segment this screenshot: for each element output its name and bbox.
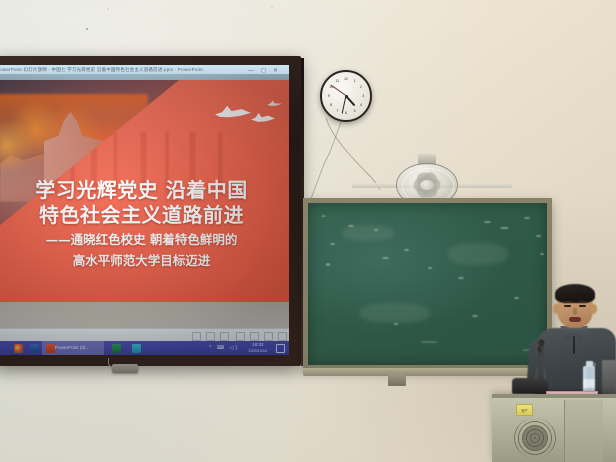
- shirt-placket: [573, 336, 575, 354]
- clock-numeral: 2: [360, 85, 362, 89]
- mail-icon[interactable]: [132, 344, 141, 353]
- chalkboard-surface[interactable]: [308, 203, 547, 365]
- wall-speck: [107, 8, 109, 10]
- dove-icon: [251, 112, 275, 125]
- status-button[interactable]: [192, 332, 201, 341]
- wall-crack: [300, 112, 346, 208]
- mouth: [569, 317, 581, 322]
- taskbar-clock[interactable]: 16:32 2025/10/16: [249, 342, 267, 354]
- chalk-tray-bracket: [388, 374, 406, 386]
- slide-canvas[interactable]: 学习光辉党史 沿着中国 特色社会主义道路前进 ——通晓红色校史 朝着特色鲜明的 …: [0, 80, 289, 328]
- clock-numeral: 8: [330, 103, 332, 107]
- clock-numeral: 1: [354, 79, 356, 83]
- hanging-wire: [322, 118, 382, 190]
- show-desktop-button[interactable]: [276, 344, 285, 353]
- clock-center-pin: [345, 95, 348, 98]
- powerpoint-title-bar[interactable]: PowerPoint 幻灯片放映 - 中国七 学习光辉党史 沿着中国特色社会主义…: [0, 65, 289, 81]
- wall-speck: [271, 6, 273, 8]
- eyebrow: [578, 301, 587, 303]
- slide-headline: 学习光辉党史 沿着中国 特色社会主义道路前进: [0, 178, 289, 228]
- status-button[interactable]: [278, 332, 287, 341]
- fan-hub: [420, 180, 434, 190]
- powerpoint-icon[interactable]: [46, 344, 55, 353]
- bag-on-lectern: [512, 378, 548, 394]
- clock-numeral: 9: [328, 94, 330, 98]
- dove-icon: [215, 104, 251, 121]
- taskbar-date: 2025/10/16: [249, 348, 267, 354]
- powerpoint-status-bar[interactable]: [0, 328, 289, 342]
- bottle-cap: [586, 361, 593, 367]
- clock-numeral: 6: [345, 111, 347, 115]
- window-controls[interactable]: —◻✕: [248, 67, 285, 74]
- clock-numeral: 11: [335, 79, 339, 83]
- lectern-side-panel: [564, 400, 603, 462]
- eyebrow: [563, 301, 572, 303]
- asset-sticker-text: 资产: [517, 408, 532, 413]
- green-chalkboard: [303, 198, 552, 370]
- laptop: [602, 360, 616, 398]
- windows-taskbar[interactable]: PowerPoint (3)... ^ ⌨ ◁) 16:32 2025/10/1…: [0, 341, 289, 355]
- clock-numeral: 7: [336, 109, 338, 113]
- clock-second-hand: [330, 85, 346, 97]
- status-button[interactable]: [236, 332, 245, 341]
- clock-numeral: 4: [360, 103, 362, 107]
- word-icon[interactable]: [30, 344, 39, 353]
- lectern-top-edge: [492, 394, 616, 398]
- ear: [553, 304, 559, 314]
- projected-desktop[interactable]: PowerPoint 幻灯片放映 - 中国七 学习光辉党史 沿着中国特色社会主义…: [0, 65, 289, 355]
- clock-numeral: 5: [354, 109, 356, 113]
- chalk-tray: [303, 368, 552, 376]
- clock-numeral: 3: [362, 94, 364, 98]
- subtitle-line-1: ——通晓红色校史 朝着特色鲜明的: [0, 230, 289, 249]
- system-tray[interactable]: ^ ⌨ ◁): [209, 345, 239, 351]
- headline-line-2: 特色社会主义道路前进: [0, 203, 289, 228]
- subtitle-line-2: 高水平师范大学目标迈进: [0, 249, 289, 273]
- wall-speck: [86, 28, 88, 30]
- speaker-grille-icon: [514, 418, 556, 458]
- bottle-label: [583, 379, 595, 388]
- classroom-scene: PowerPoint 幻灯片放映 - 中国七 学习光辉党史 沿着中国特色社会主义…: [0, 0, 616, 462]
- status-button[interactable]: [206, 332, 215, 341]
- status-button[interactable]: [264, 332, 273, 341]
- slide-lower-band: [0, 302, 289, 328]
- status-button[interactable]: [220, 332, 229, 341]
- speaker-hair: [555, 284, 595, 303]
- projection-screen-frame: PowerPoint 幻灯片放映 - 中国七 学习光辉党史 沿着中国特色社会主义…: [0, 56, 301, 366]
- analog-wall-clock: 12 1 2 3 4 5 6 7 8 9 10 11: [320, 70, 372, 122]
- window-title-text: PowerPoint 幻灯片放映 - 中国七 学习光辉党史 沿着中国特色社会主义…: [0, 67, 203, 73]
- excel-icon[interactable]: [112, 344, 121, 353]
- nose: [573, 308, 577, 315]
- status-button[interactable]: [250, 332, 259, 341]
- headline-line-1: 学习光辉党史 沿着中国: [0, 178, 289, 203]
- lectern: 资产: [492, 394, 616, 462]
- clock-numeral: 12: [344, 77, 348, 81]
- dove-group: [209, 98, 283, 132]
- asset-sticker: 资产: [516, 404, 533, 416]
- chrome-icon[interactable]: [14, 344, 23, 353]
- ear: [591, 304, 597, 314]
- dove-icon: [267, 100, 282, 108]
- slide-subtitle: ——通晓红色校史 朝着特色鲜明的 高水平师范大学目标迈进: [0, 230, 289, 273]
- screen-bottom-clip: [112, 364, 138, 373]
- taskbar-active-label: PowerPoint (3)...: [55, 345, 89, 350]
